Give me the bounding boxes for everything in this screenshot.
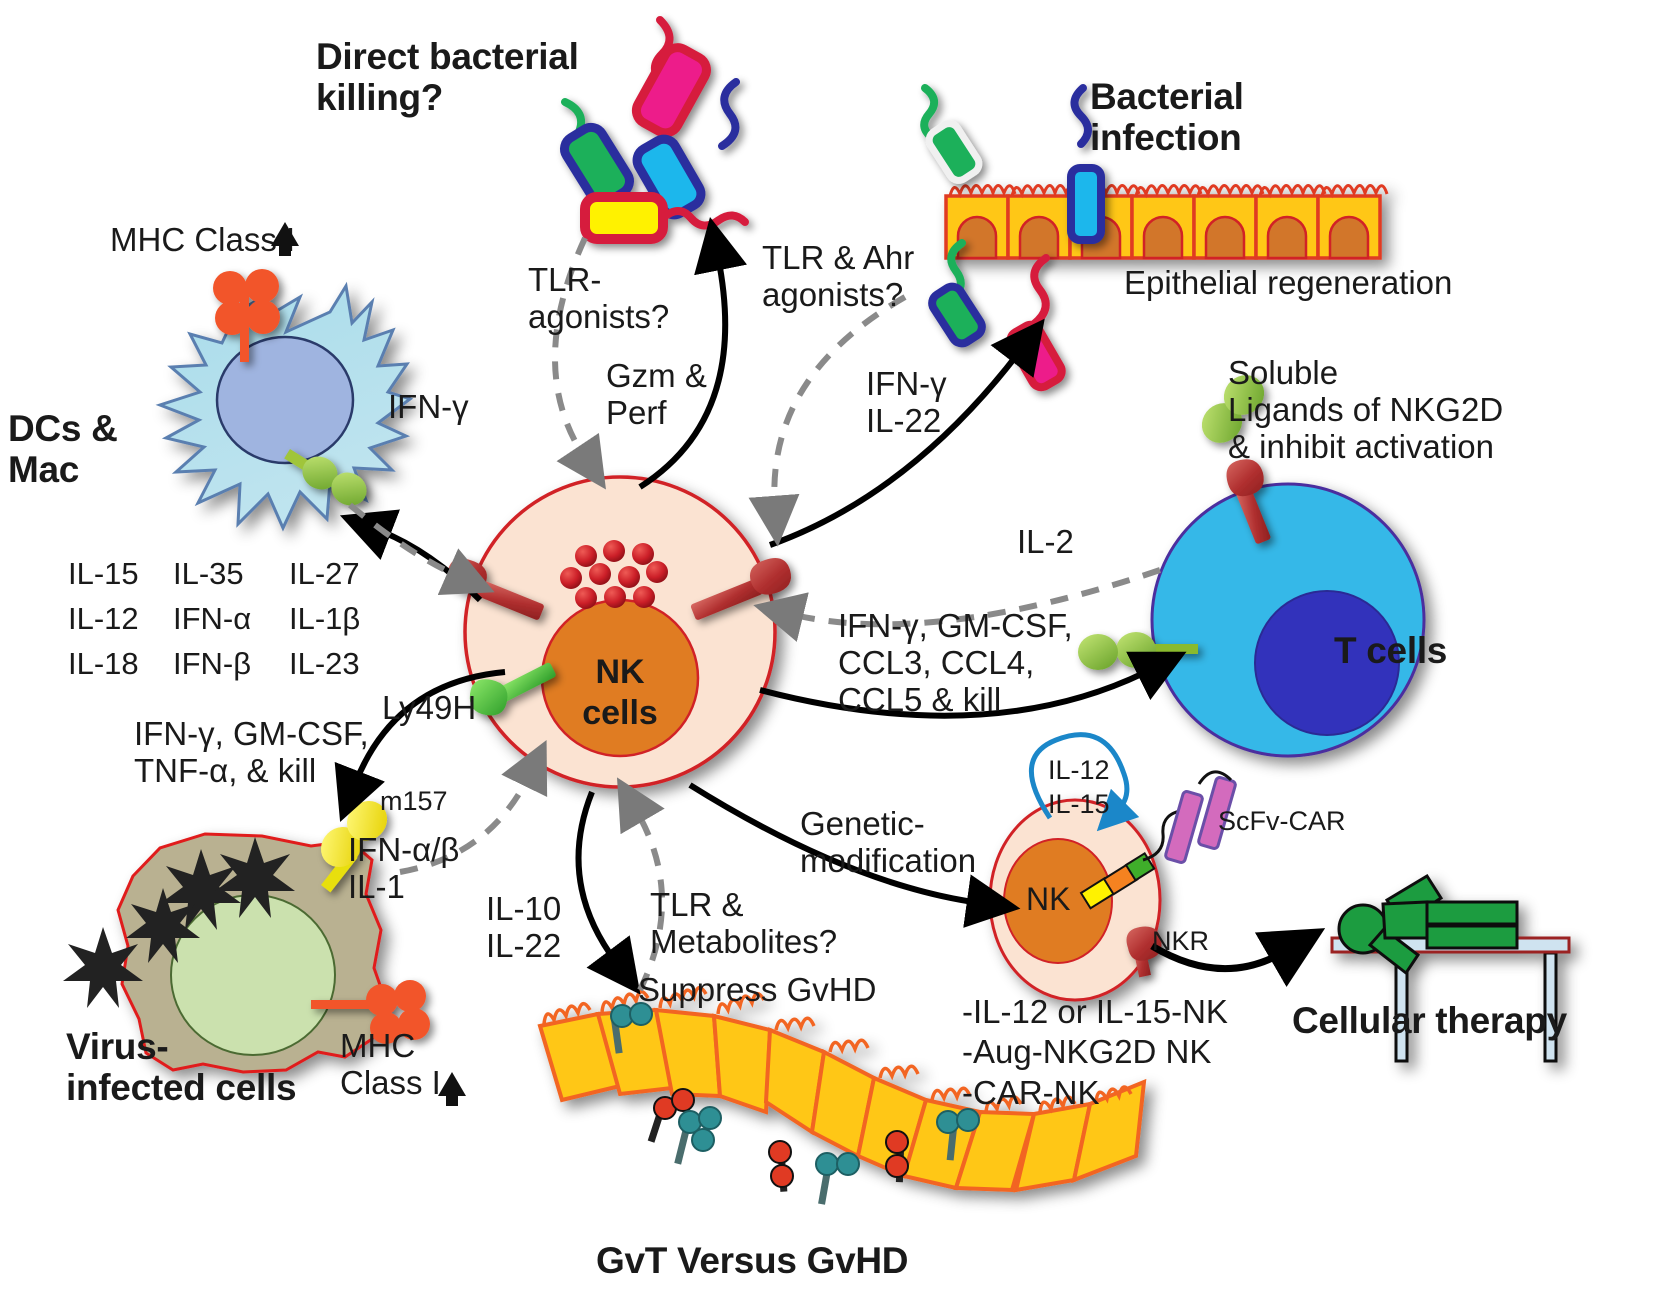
label-ly49h: Ly49H xyxy=(382,690,476,727)
label-genetic-modification: Genetic- modification xyxy=(800,806,976,880)
label-nkr: NKR xyxy=(1152,926,1209,956)
cytokine-cell: IFN-α xyxy=(173,601,289,637)
label-suppress-gvhd: Suppress GvHD xyxy=(638,972,876,1009)
label-dcs-and-mac: DCs & Mac xyxy=(8,408,118,491)
up-arrow-icon-dc xyxy=(268,220,302,258)
label-ifn-gamma-to-dc: IFN-γ xyxy=(388,389,469,426)
label-epithelial-regeneration: Epithelial regeneration xyxy=(1124,265,1452,302)
cytokine-cell: IL-27 xyxy=(289,556,360,592)
label-il12-il15-loop: IL-12 IL-15 xyxy=(1048,754,1110,822)
label-gvt-versus-gvhd: GvT Versus GvHD xyxy=(596,1240,908,1281)
bacterium-green-free xyxy=(924,88,982,184)
bacteria-cluster-killed xyxy=(560,20,745,239)
label-tlr-metabolites: TLR & Metabolites? xyxy=(650,887,837,961)
cytokine-cell: IFN-β xyxy=(173,646,289,682)
label-tcell-outputs: IFN-γ, GM-CSF, CCL3, CCL4, CCL5 & kill xyxy=(838,608,1073,719)
label-virus-infected-cells: Virus- infected cells xyxy=(66,1026,296,1109)
up-arrow-icon-virus xyxy=(435,1070,469,1108)
nk-cell xyxy=(465,477,775,787)
arrow-nk-to-gvhd-epithelium xyxy=(579,792,617,962)
label-gzm-perf: Gzm & Perf xyxy=(606,358,707,432)
label-nk-cells: NK cells xyxy=(572,652,668,735)
label-bacterial-infection: Bacterial infection xyxy=(1090,76,1244,159)
label-ifn-alpha-beta-il1: IFN-α/β IL-1 xyxy=(348,832,459,906)
label-virus-cell-outputs: IFN-γ, GM-CSF, TNF-α, & kill xyxy=(134,716,369,790)
label-tlr-agonists: TLR- agonists? xyxy=(528,262,669,336)
dendritic-cell xyxy=(160,286,410,528)
label-ifn-gamma-il22: IFN-γ IL-22 xyxy=(866,366,947,440)
cytokine-grid: IL-15 IL-35 IL-27 IL-12 IFN-α IL-1β IL-1… xyxy=(68,556,360,682)
label-t-cells: T cells xyxy=(1334,630,1447,671)
label-tlr-ahr-agonists: TLR & Ahr agonists? xyxy=(762,240,914,314)
label-il10-il22: IL-10 IL-22 xyxy=(486,891,561,965)
cytokine-cell: IL-1β xyxy=(289,601,360,637)
label-therapy-list: -IL-12 or IL-15-NK -Aug-NKG2D NK -CAR-NK xyxy=(962,992,1228,1113)
diagram-canvas: Direct bacterial killing? Bacterial infe… xyxy=(0,0,1657,1301)
label-m157: m157 xyxy=(380,786,448,816)
label-scfv-car: ScFv-CAR xyxy=(1218,806,1346,836)
label-mhc-class-i-virus: MHC Class I xyxy=(340,1028,441,1102)
cytokine-cell: IL-35 xyxy=(173,556,289,592)
cytokine-cell: IL-23 xyxy=(289,646,360,682)
engineered-nk-cell xyxy=(990,800,1160,1000)
label-nk-small: NK xyxy=(1026,882,1070,918)
bacterium-magenta-lower xyxy=(1007,258,1066,391)
label-direct-bacterial-killing: Direct bacterial killing? xyxy=(316,36,579,119)
t-cell xyxy=(1152,484,1424,756)
label-soluble-ligands-nkg2d: Soluble Ligands of NKG2D & inhibit activ… xyxy=(1228,355,1503,466)
cytokine-cell: IL-18 xyxy=(68,646,173,682)
label-il2: IL-2 xyxy=(1017,524,1074,561)
cytokine-cell: IL-15 xyxy=(68,556,173,592)
intestinal-epithelium-top xyxy=(946,186,1387,259)
cytokine-cell: IL-12 xyxy=(68,601,173,637)
label-cellular-therapy: Cellular therapy xyxy=(1292,1000,1567,1041)
